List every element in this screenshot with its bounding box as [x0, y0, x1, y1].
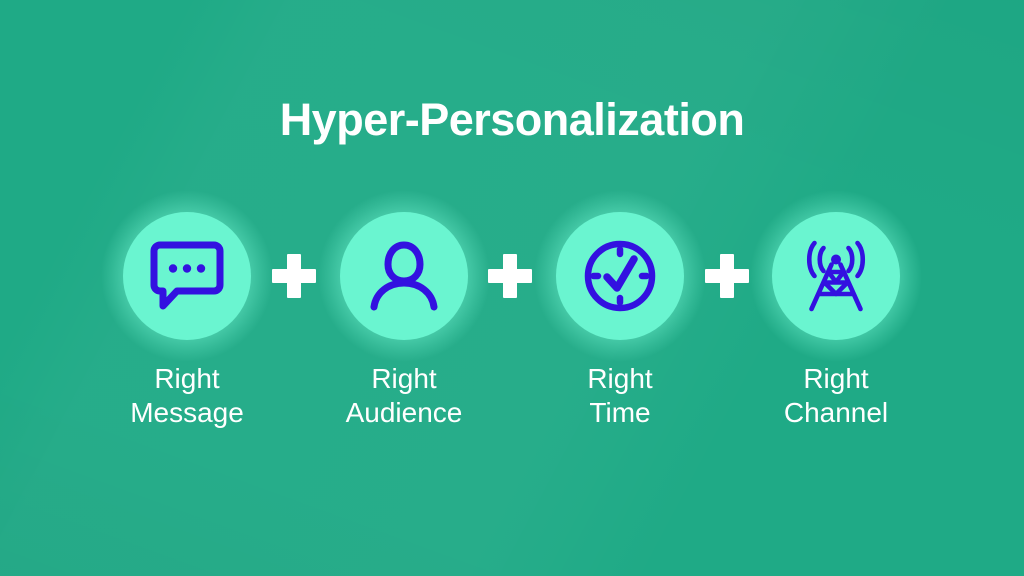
- pillar-right-message[interactable]: [101, 190, 273, 362]
- pillar-label-line-2: Audience: [299, 396, 509, 430]
- pillar-right-time[interactable]: [534, 190, 706, 362]
- pillar-label-right-audience: Right Audience: [299, 362, 509, 430]
- speech-bubble-dots-icon: [150, 241, 224, 311]
- pillars-row: [0, 190, 1024, 350]
- pillar-label-line-2: Channel: [731, 396, 941, 430]
- slide-canvas: Hyper-Personalization: [0, 0, 1024, 576]
- plus-icon-vertical-bar: [720, 254, 734, 298]
- clock-check-icon: [583, 239, 657, 313]
- broadcast-tower-icon: [798, 238, 874, 314]
- pillar-label-right-message: Right Message: [82, 362, 292, 430]
- plus-icon-vertical-bar: [503, 254, 517, 298]
- icon-disc: [772, 212, 900, 340]
- pillar-label-line-1: Right: [299, 362, 509, 396]
- pillar-right-audience[interactable]: [318, 190, 490, 362]
- pillar-label-line-2: Message: [82, 396, 292, 430]
- person-icon: [370, 240, 438, 312]
- icon-disc: [123, 212, 251, 340]
- pillar-label-line-1: Right: [515, 362, 725, 396]
- pillar-right-channel[interactable]: [750, 190, 922, 362]
- pillar-label-line-1: Right: [731, 362, 941, 396]
- icon-disc: [556, 212, 684, 340]
- icon-disc: [340, 212, 468, 340]
- plus-icon-vertical-bar: [287, 254, 301, 298]
- plus-operator-2: [488, 254, 532, 298]
- pillar-label-right-time: Right Time: [515, 362, 725, 430]
- page-title: Hyper-Personalization: [0, 97, 1024, 142]
- pillar-label-right-channel: Right Channel: [731, 362, 941, 430]
- pillar-label-line-1: Right: [82, 362, 292, 396]
- plus-operator-3: [705, 254, 749, 298]
- pillar-label-line-2: Time: [515, 396, 725, 430]
- plus-operator-1: [272, 254, 316, 298]
- pillar-labels-row: Right Message Right Audience Right Time …: [0, 362, 1024, 442]
